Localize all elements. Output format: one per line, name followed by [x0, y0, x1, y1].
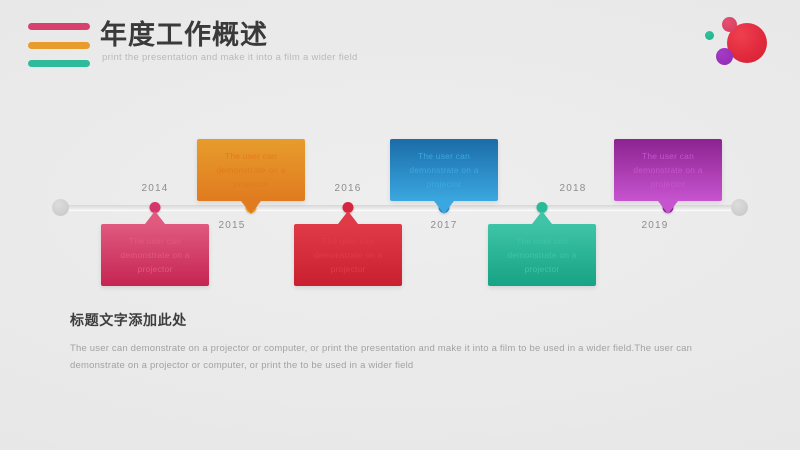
timeline-card-text: The user can demonstrate on a projector — [294, 234, 402, 276]
timeline-year-label-2014: 2014 — [141, 183, 168, 194]
page-title: 年度工作概述 — [100, 18, 268, 52]
timeline-year-label-2015: 2015 — [218, 220, 245, 231]
logo-bar-orange — [28, 42, 90, 49]
timeline-cap-right — [731, 199, 748, 216]
timeline-card-2015[interactable]: The user can demonstrate on a projector — [197, 139, 305, 201]
timeline-cap-left — [52, 199, 69, 216]
timeline-year-label-2019: 2019 — [641, 220, 668, 231]
timeline-card-text: The user can demonstrate on a projector — [197, 149, 305, 191]
timeline-card-text: The user can demonstrate on a projector — [488, 234, 596, 276]
timeline-card-text: The user can demonstrate on a projector — [390, 149, 498, 191]
slide-canvas: 年度工作概述 print the presentation and make i… — [0, 0, 800, 450]
timeline-card-text: The user can demonstrate on a projector — [101, 234, 209, 276]
logo-bar-teal — [28, 60, 90, 67]
timeline-card-2016[interactable]: The user can demonstrate on a projector — [294, 224, 402, 286]
timeline-year-label-2018: 2018 — [559, 183, 586, 194]
timeline-card-2018[interactable]: The user can demonstrate on a projector — [488, 224, 596, 286]
timeline-card-2017[interactable]: The user can demonstrate on a projector — [390, 139, 498, 201]
timeline-year-label-2017: 2017 — [430, 220, 457, 231]
timeline-track — [60, 205, 740, 210]
decor-circle-purple-icon — [716, 48, 733, 65]
logo-bar-pink — [28, 23, 90, 30]
decorative-circles — [694, 4, 794, 84]
header-logo — [28, 23, 90, 67]
timeline-card-2014[interactable]: The user can demonstrate on a projector — [101, 224, 209, 286]
timeline-card-text: The user can demonstrate on a projector — [614, 149, 722, 191]
timeline — [0, 198, 800, 218]
decor-circle-green-icon — [705, 31, 714, 40]
bottom-heading: 标题文字添加此处 — [70, 310, 187, 330]
timeline-card-2019[interactable]: The user can demonstrate on a projector — [614, 139, 722, 201]
timeline-year-label-2016: 2016 — [334, 183, 361, 194]
page-subtitle: print the presentation and make it into … — [102, 52, 358, 63]
bottom-paragraph: The user can demonstrate on a projector … — [70, 340, 730, 374]
decor-circle-pink-icon — [722, 17, 737, 32]
